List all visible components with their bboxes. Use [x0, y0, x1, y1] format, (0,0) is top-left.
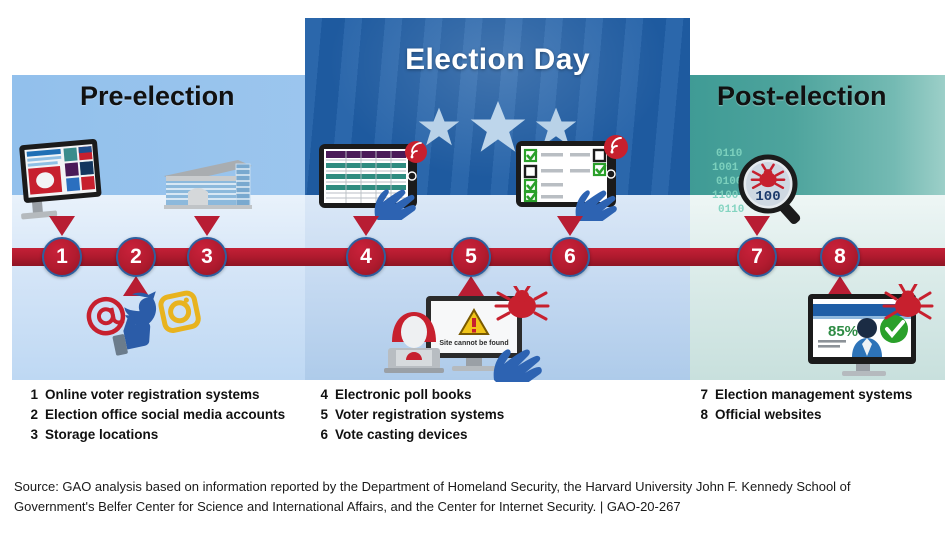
- legend-number: 6: [312, 425, 328, 444]
- source-note: Source: GAO analysis based on informatio…: [14, 477, 929, 516]
- legend-number: 1: [22, 385, 38, 404]
- legend-column-post-election: 7 Election management systems 8 Official…: [692, 385, 937, 425]
- svg-text:1100: 1100: [712, 190, 738, 202]
- post-election-title: Post-election: [717, 81, 887, 112]
- legend-item: 2 Election office social media accounts: [22, 405, 302, 424]
- pointer-arrow-3: [194, 216, 220, 236]
- infographic-canvas: Election Day Pre-election Post-election: [0, 0, 945, 534]
- legend-item: 6 Vote casting devices: [312, 425, 562, 444]
- icon-official-websites: 85%: [782, 284, 942, 387]
- pre-election-title: Pre-election: [80, 81, 235, 112]
- icon-vote-casting-devices: [508, 133, 634, 226]
- legend-label: Online voter registration systems: [45, 385, 302, 404]
- timeline-node-4[interactable]: 4: [346, 237, 386, 277]
- svg-text:0110: 0110: [716, 148, 742, 160]
- legend-number: 2: [22, 405, 38, 424]
- legend-item: 3 Storage locations: [22, 425, 302, 444]
- timeline-node-1[interactable]: 1: [42, 237, 82, 277]
- icon-storage-locations: [160, 150, 256, 221]
- timeline-node-8[interactable]: 8: [820, 237, 860, 277]
- legend-label: Vote casting devices: [335, 425, 562, 444]
- pointer-arrow-7: [744, 216, 770, 236]
- icon-online-voter-registration: [14, 138, 106, 225]
- legend-number: 8: [692, 405, 708, 424]
- legend-label: Official websites: [715, 405, 937, 424]
- legend-item: 1 Online voter registration systems: [22, 385, 302, 404]
- timeline-node-7[interactable]: 7: [737, 237, 777, 277]
- magnified-binary-text: 100: [755, 189, 780, 205]
- legend-label: Storage locations: [45, 425, 302, 444]
- svg-text:0110: 0110: [718, 204, 744, 216]
- legend-item: 4 Electronic poll books: [312, 385, 562, 404]
- legend-item: 8 Official websites: [692, 405, 937, 424]
- legend-label: Voter registration systems: [335, 405, 562, 424]
- pointer-arrow-1: [49, 216, 75, 236]
- timeline-node-2[interactable]: 2: [116, 237, 156, 277]
- legend-label: Election management systems: [715, 385, 937, 404]
- timeline-node-5[interactable]: 5: [451, 237, 491, 277]
- legend-number: 7: [692, 385, 708, 404]
- legend-label: Election office social media accounts: [45, 405, 302, 424]
- timeline-node-3[interactable]: 3: [187, 237, 227, 277]
- pointer-arrow-6: [557, 216, 583, 236]
- icon-social-media-accounts: [86, 282, 206, 367]
- election-day-title: Election Day: [305, 43, 690, 77]
- legend-number: 5: [312, 405, 328, 424]
- error-text: Site cannot be found: [439, 340, 508, 347]
- timeline-node-6[interactable]: 6: [550, 237, 590, 277]
- legend-number: 4: [312, 385, 328, 404]
- legend-label: Electronic poll books: [335, 385, 562, 404]
- legend-column-election-day: 4 Electronic poll books 5 Voter registra…: [312, 385, 562, 445]
- legend-item: 5 Voter registration systems: [312, 405, 562, 424]
- website-stat-text: 85%: [828, 323, 858, 340]
- legend-column-pre-election: 1 Online voter registration systems 2 El…: [22, 385, 302, 445]
- legend-item: 7 Election management systems: [692, 385, 937, 404]
- svg-text:1001: 1001: [712, 162, 739, 174]
- legend-number: 3: [22, 425, 38, 444]
- icon-electronic-poll-books: [313, 138, 433, 225]
- icon-voter-registration-systems: Site cannot be found: [382, 286, 552, 387]
- svg-text:0100: 0100: [716, 176, 742, 188]
- pointer-arrow-4: [353, 216, 379, 236]
